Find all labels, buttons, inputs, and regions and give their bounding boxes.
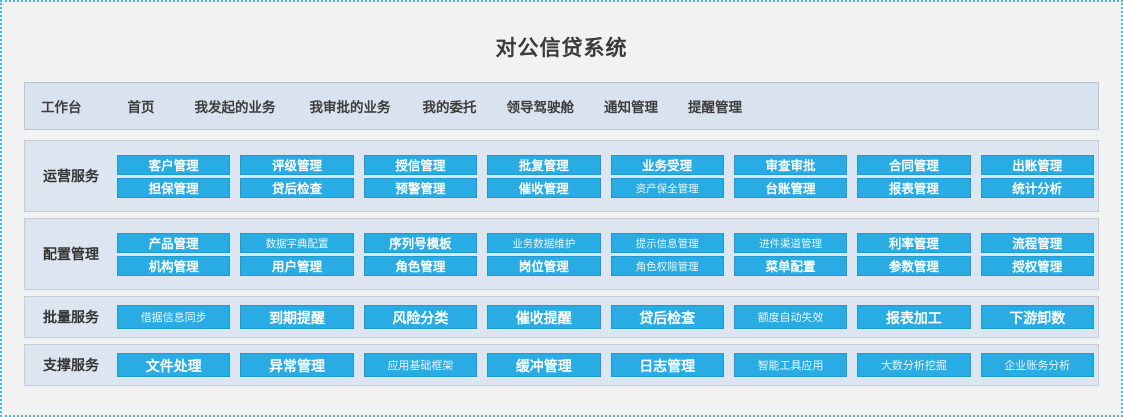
tile-button[interactable]: 机构管理 [117, 256, 230, 276]
tile-button[interactable]: 大数分析挖掘 [857, 353, 970, 377]
tile-button[interactable]: 报表管理 [857, 178, 970, 198]
tile-button[interactable]: 菜单配置 [734, 256, 847, 276]
nav-item-2[interactable]: 我发起的业务 [195, 96, 276, 116]
tile-button[interactable]: 智能工具应用 [734, 353, 847, 377]
tile-button[interactable]: 参数管理 [857, 256, 970, 276]
tile-button[interactable]: 出账管理 [981, 155, 1094, 175]
tile-button[interactable]: 到期提醒 [240, 305, 353, 329]
tile-button[interactable]: 缓冲管理 [487, 353, 600, 377]
tile-button[interactable]: 额度自动失效 [734, 305, 847, 329]
tile-button[interactable]: 批复管理 [487, 155, 600, 175]
tile-button[interactable]: 授权管理 [981, 256, 1094, 276]
tile-button[interactable]: 报表加工 [857, 305, 970, 329]
section-batch: 批量服务借据信息同步到期提醒风险分类催收提醒贷后检查额度自动失效报表加工下游卸数 [24, 296, 1099, 338]
tile-button[interactable]: 提示信息管理 [611, 233, 724, 253]
tile-button[interactable]: 催收管理 [487, 178, 600, 198]
section-rows-operations: 客户管理评级管理授信管理批复管理业务受理审查审批合同管理出账管理担保管理贷后检查… [117, 155, 1098, 198]
nav-item-3[interactable]: 我审批的业务 [310, 96, 391, 116]
tile-button[interactable]: 预警管理 [364, 178, 477, 198]
section-support: 支撑服务文件处理异常管理应用基础框架缓冲管理日志管理智能工具应用大数分析挖掘企业… [24, 344, 1099, 386]
app-frame: 对公信贷系统 工作台首页我发起的业务我审批的业务我的委托领导驾驶舱通知管理提醒管… [10, 10, 1113, 407]
tile-button[interactable]: 评级管理 [240, 155, 353, 175]
tile-button[interactable]: 风险分类 [364, 305, 477, 329]
section-config: 配置管理产品管理数据字典配置序列号模板业务数据维护提示信息管理进件渠道管理利率管… [24, 218, 1099, 290]
main-navigation-bar: 工作台首页我发起的业务我审批的业务我的委托领导驾驶舱通知管理提醒管理 [24, 82, 1099, 130]
tile-button[interactable]: 业务受理 [611, 155, 724, 175]
tile-button[interactable]: 用户管理 [240, 256, 353, 276]
tile-button[interactable]: 企业账务分析 [981, 353, 1094, 377]
nav-item-0[interactable]: 工作台 [41, 96, 82, 116]
tile-button[interactable]: 台账管理 [734, 178, 847, 198]
page-title: 对公信贷系统 [10, 32, 1113, 62]
section-rows-support: 文件处理异常管理应用基础框架缓冲管理日志管理智能工具应用大数分析挖掘企业账务分析 [117, 353, 1098, 377]
tile-button[interactable]: 统计分析 [981, 178, 1094, 198]
tile-button[interactable]: 异常管理 [240, 353, 353, 377]
tile-button[interactable]: 催收提醒 [487, 305, 600, 329]
tile-button[interactable]: 审查审批 [734, 155, 847, 175]
tile-button[interactable]: 产品管理 [117, 233, 230, 253]
nav-item-6[interactable]: 通知管理 [604, 96, 658, 116]
tile-button[interactable]: 贷后检查 [240, 178, 353, 198]
nav-item-1[interactable]: 首页 [128, 96, 155, 116]
tile-button[interactable]: 授信管理 [364, 155, 477, 175]
tile-button[interactable]: 资产保全管理 [611, 178, 724, 198]
tile-button[interactable]: 文件处理 [117, 353, 230, 377]
tile-button[interactable]: 日志管理 [611, 353, 724, 377]
nav-item-4[interactable]: 我的委托 [423, 96, 477, 116]
tile-row: 产品管理数据字典配置序列号模板业务数据维护提示信息管理进件渠道管理利率管理流程管… [117, 233, 1094, 253]
tile-button[interactable]: 角色管理 [364, 256, 477, 276]
tile-row: 文件处理异常管理应用基础框架缓冲管理日志管理智能工具应用大数分析挖掘企业账务分析 [117, 353, 1094, 377]
tile-button[interactable]: 数据字典配置 [240, 233, 353, 253]
tile-row: 担保管理贷后检查预警管理催收管理资产保全管理台账管理报表管理统计分析 [117, 178, 1094, 198]
tile-button[interactable]: 角色权限管理 [611, 256, 724, 276]
nav-item-5[interactable]: 领导驾驶舱 [507, 96, 575, 116]
section-operations: 运营服务客户管理评级管理授信管理批复管理业务受理审查审批合同管理出账管理担保管理… [24, 140, 1099, 212]
section-label-batch: 批量服务 [25, 307, 117, 327]
tile-button[interactable]: 岗位管理 [487, 256, 600, 276]
tile-button[interactable]: 贷后检查 [611, 305, 724, 329]
section-rows-batch: 借据信息同步到期提醒风险分类催收提醒贷后检查额度自动失效报表加工下游卸数 [117, 305, 1098, 329]
tile-button[interactable]: 利率管理 [857, 233, 970, 253]
tile-button[interactable]: 序列号模板 [364, 233, 477, 253]
tile-row: 客户管理评级管理授信管理批复管理业务受理审查审批合同管理出账管理 [117, 155, 1094, 175]
tile-row: 机构管理用户管理角色管理岗位管理角色权限管理菜单配置参数管理授权管理 [117, 256, 1094, 276]
tile-button[interactable]: 进件渠道管理 [734, 233, 847, 253]
section-label-operations: 运营服务 [25, 166, 117, 186]
section-rows-config: 产品管理数据字典配置序列号模板业务数据维护提示信息管理进件渠道管理利率管理流程管… [117, 233, 1098, 276]
tile-button[interactable]: 流程管理 [981, 233, 1094, 253]
tile-button[interactable]: 业务数据维护 [487, 233, 600, 253]
tile-button[interactable]: 担保管理 [117, 178, 230, 198]
nav-item-7[interactable]: 提醒管理 [688, 96, 742, 116]
tile-button[interactable]: 应用基础框架 [364, 353, 477, 377]
tile-button[interactable]: 下游卸数 [981, 305, 1094, 329]
tile-button[interactable]: 合同管理 [857, 155, 970, 175]
app-window: 对公信贷系统 工作台首页我发起的业务我审批的业务我的委托领导驾驶舱通知管理提醒管… [0, 0, 1123, 417]
section-label-support: 支撑服务 [25, 355, 117, 375]
tile-row: 借据信息同步到期提醒风险分类催收提醒贷后检查额度自动失效报表加工下游卸数 [117, 305, 1094, 329]
tile-button[interactable]: 客户管理 [117, 155, 230, 175]
section-label-config: 配置管理 [25, 244, 117, 264]
tile-button[interactable]: 借据信息同步 [117, 305, 230, 329]
